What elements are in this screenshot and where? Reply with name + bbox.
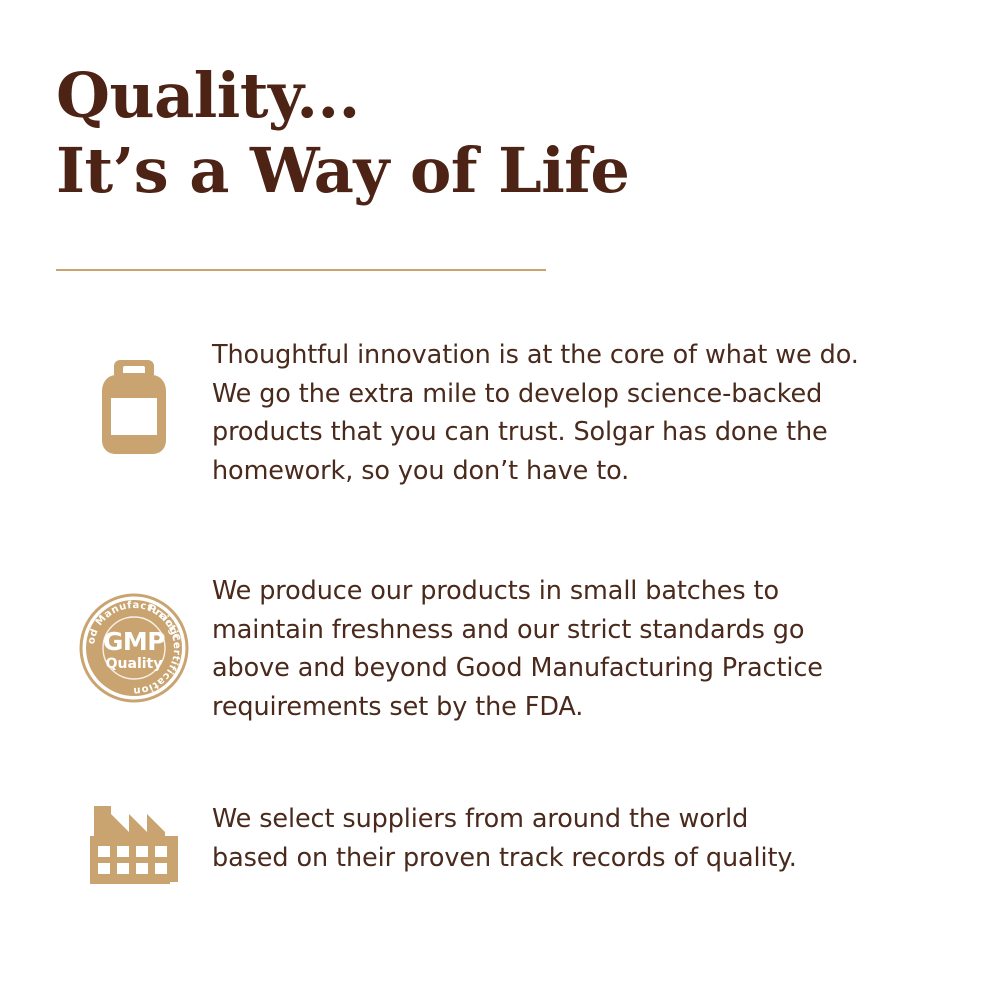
feature-description-line: above and beyond Good Manufacturing Prac…	[212, 649, 932, 688]
feature-row: Thoughtful innovation is at the core of …	[56, 336, 956, 490]
supplement-jar-icon	[98, 358, 170, 456]
page-title: Quality... It’s a Way of Life	[56, 58, 916, 208]
feature-description-line: maintain freshness and our strict standa…	[212, 611, 932, 650]
feature-description: We select suppliers from around the worl…	[212, 800, 932, 877]
feature-icon-cell	[56, 800, 212, 884]
gmp-center-secondary: Quality	[106, 656, 163, 672]
feature-description-line: based on their proven track records of q…	[212, 839, 932, 878]
factory-icon	[88, 806, 180, 884]
heading-divider	[56, 269, 546, 271]
feature-row: We select suppliers from around the worl…	[56, 800, 956, 884]
quality-infographic-page: Quality... It’s a Way of Life Thoughtful…	[0, 0, 1000, 1000]
page-title-line-1: Quality...	[56, 58, 916, 133]
feature-description-line: homework, so you don’t have to.	[212, 452, 932, 491]
feature-description-line: We go the extra mile to develop science-…	[212, 375, 932, 414]
feature-description-line: products that you can trust. Solgar has …	[212, 413, 932, 452]
feature-description: Thoughtful innovation is at the core of …	[212, 336, 932, 490]
feature-description-line: requirements set by the FDA.	[212, 688, 932, 727]
feature-icon-cell: Good Manufacturing Practice Certificatio…	[56, 572, 212, 704]
gmp-center-primary: GMP	[103, 627, 165, 656]
feature-icon-cell	[56, 336, 212, 456]
feature-row: Good Manufacturing Practice Certificatio…	[56, 572, 956, 726]
gmp-quality-seal-icon: Good Manufacturing Practice Certificatio…	[78, 592, 190, 704]
page-title-line-2: It’s a Way of Life	[56, 133, 916, 208]
feature-description-line: We select suppliers from around the worl…	[212, 800, 932, 839]
feature-description-line: Thoughtful innovation is at the core of …	[212, 336, 932, 375]
feature-description: We produce our products in small batches…	[212, 572, 932, 726]
feature-description-line: We produce our products in small batches…	[212, 572, 932, 611]
